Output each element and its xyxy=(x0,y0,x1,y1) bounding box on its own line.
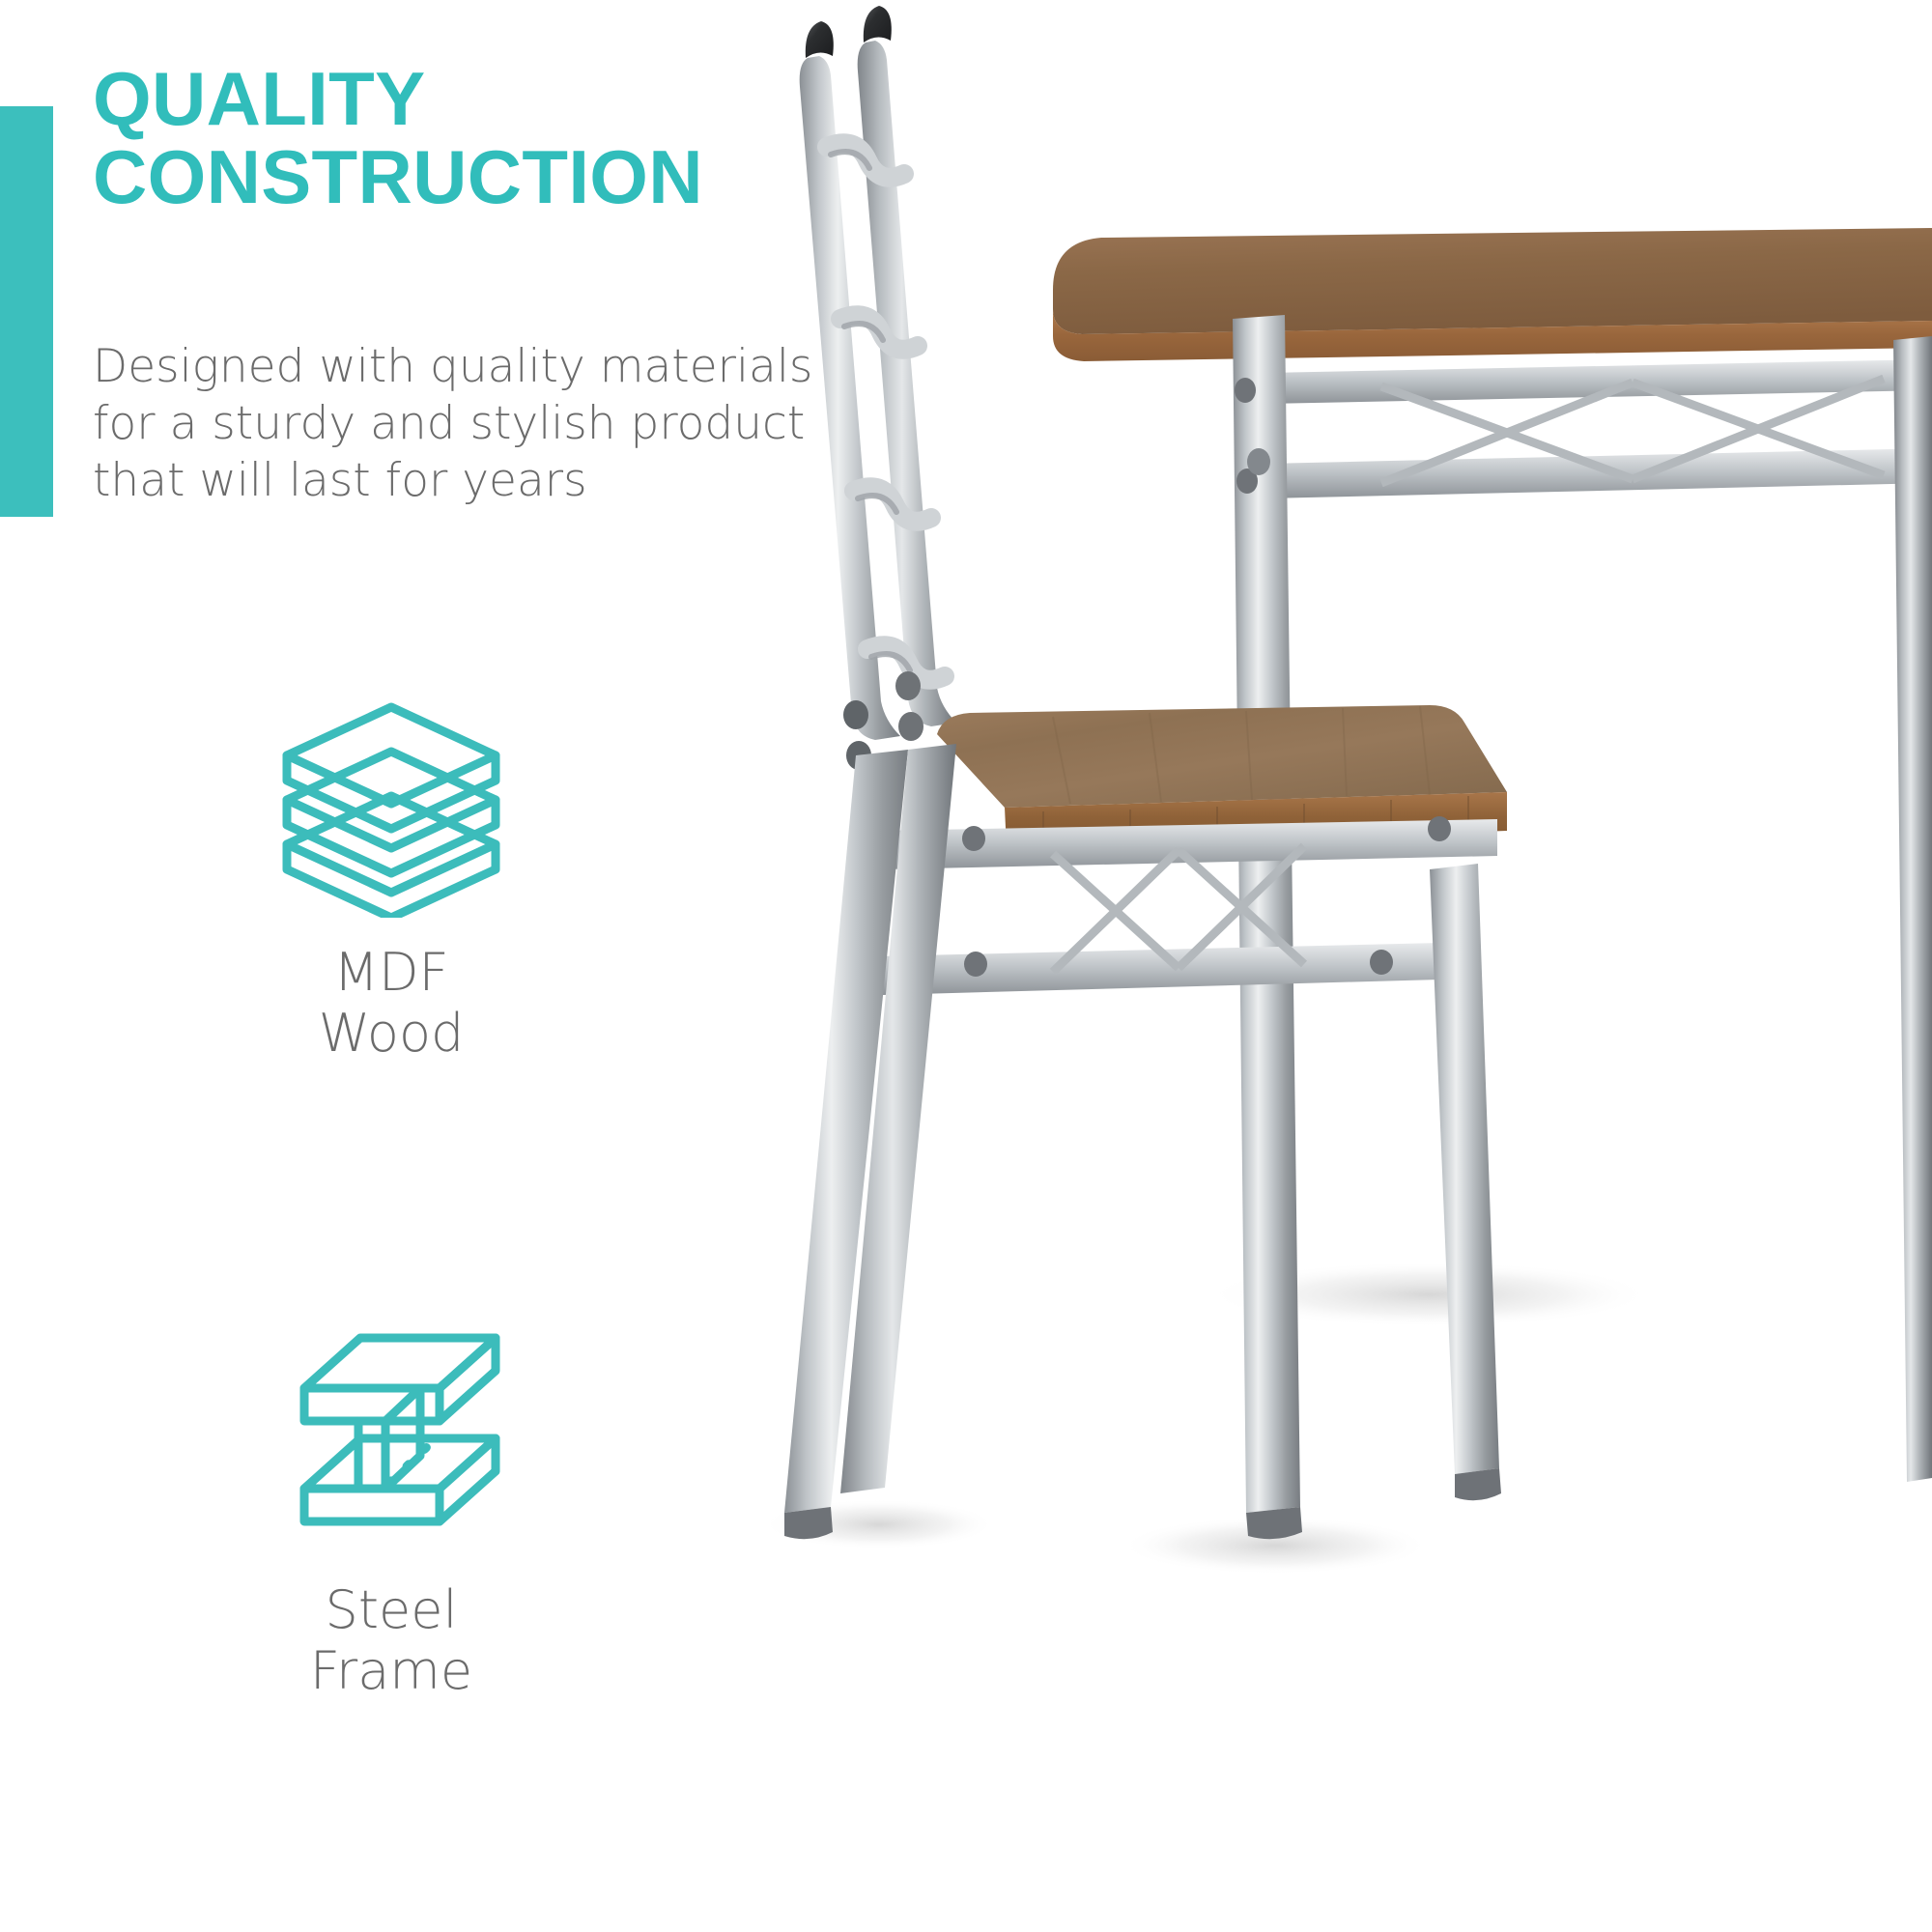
feature-mdf-label-line-2: Wood xyxy=(188,1004,594,1065)
accent-bar xyxy=(0,106,53,517)
subtitle-line-3: that will last for years xyxy=(93,452,827,509)
feature-mdf-wood: MDF Wood xyxy=(188,696,594,1064)
feature-mdf-label: MDF Wood xyxy=(188,943,594,1064)
feature-steel-label-line-1: Steel xyxy=(188,1580,594,1641)
feature-steel-label-line-2: Frame xyxy=(188,1641,594,1702)
subtitle-paragraph: Designed with quality materials for a st… xyxy=(93,338,827,510)
subtitle-line-2: for a sturdy and stylish product xyxy=(93,395,827,452)
table-top xyxy=(1053,228,1932,334)
subtitle-line-1: Designed with quality materials xyxy=(93,338,827,395)
chair-post-cap-rear xyxy=(806,21,834,58)
table-leg-rear-right xyxy=(1893,336,1932,1482)
feature-mdf-label-line-1: MDF xyxy=(188,943,594,1004)
marketing-infographic: QUALITY CONSTRUCTION Designed with quali… xyxy=(0,0,1932,1932)
chair-leg-front-right xyxy=(1430,864,1499,1474)
product-photo xyxy=(763,0,1932,1932)
feature-steel-label: Steel Frame xyxy=(188,1580,594,1701)
chair-post-cap-front xyxy=(864,6,892,43)
stacked-layers-icon xyxy=(275,696,507,918)
feature-steel-frame: Steel Frame xyxy=(188,1328,594,1701)
i-beam-icon xyxy=(275,1328,507,1555)
dining-set-illustration xyxy=(763,0,1932,1932)
